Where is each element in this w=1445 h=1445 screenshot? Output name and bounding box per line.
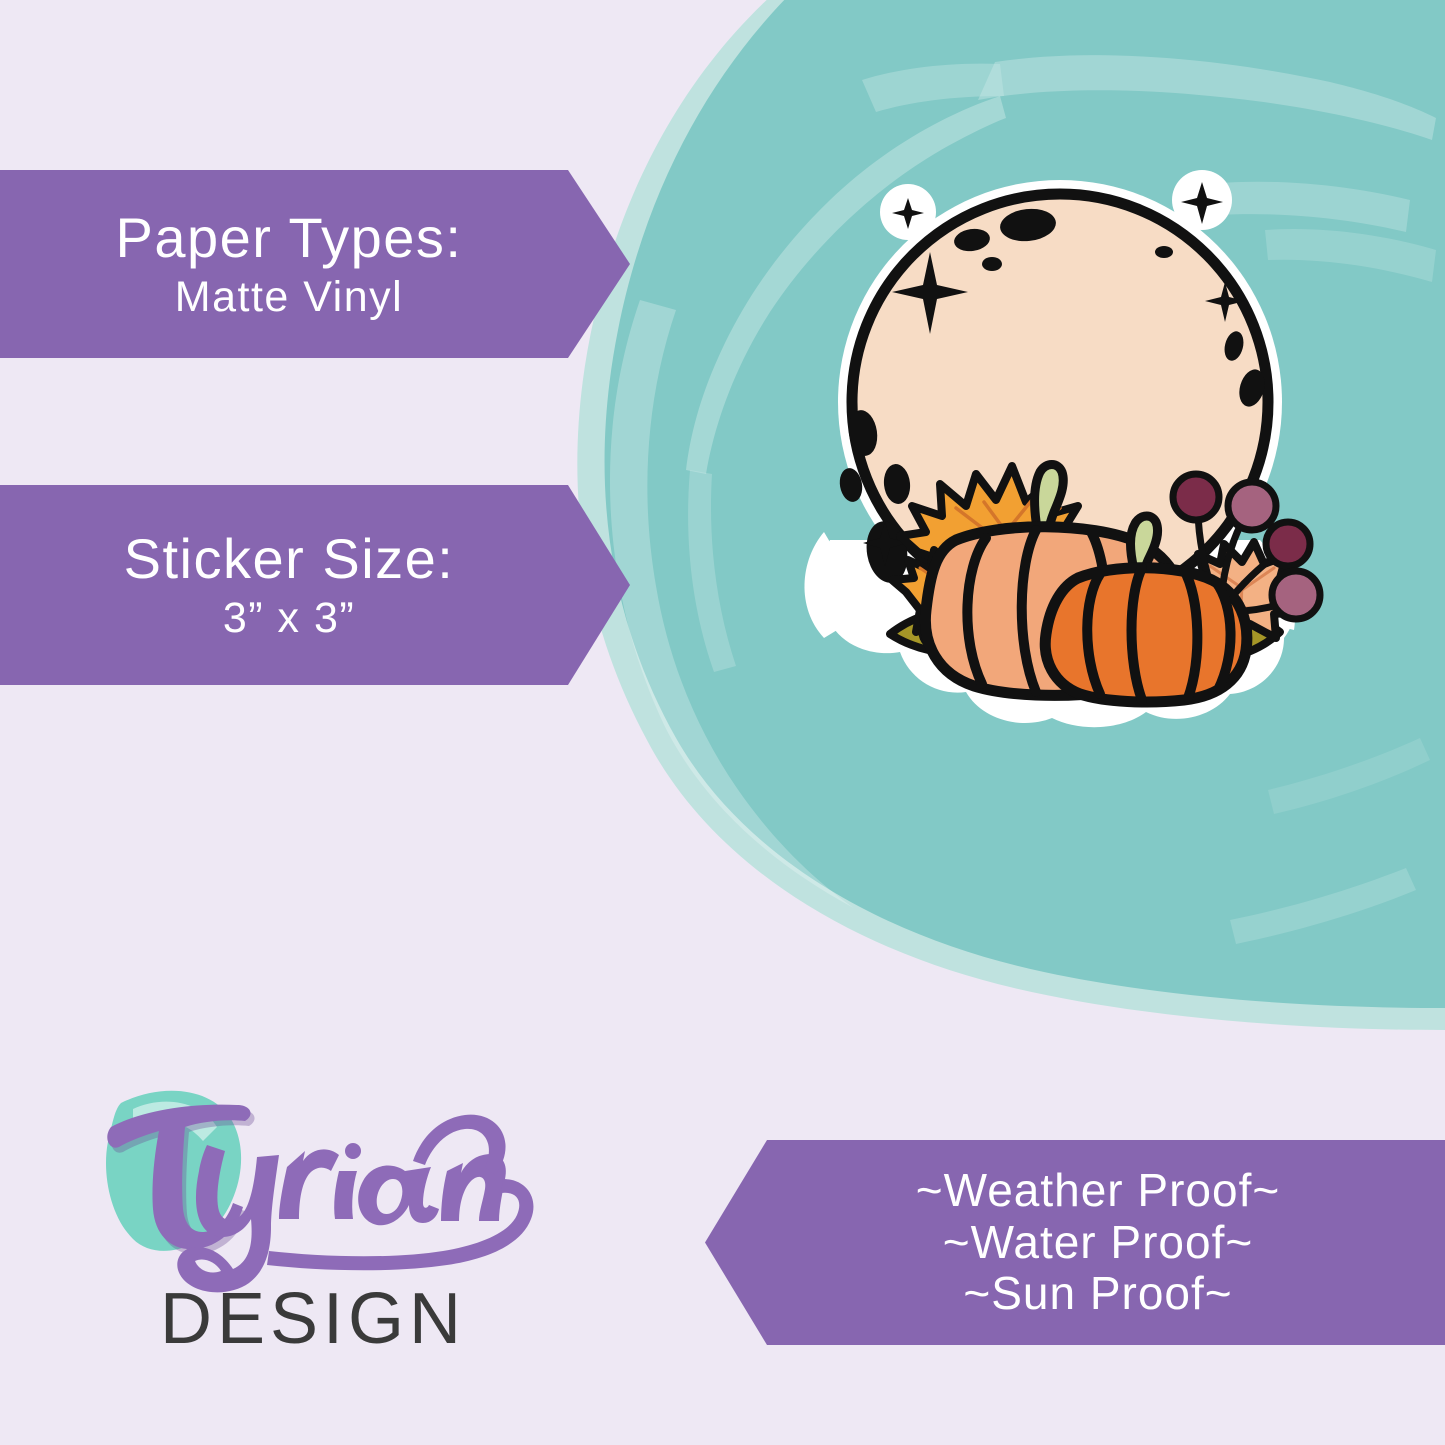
sticker-size-value: 3” x 3” <box>223 594 355 642</box>
sticker-size-banner: Sticker Size: 3” x 3” <box>0 485 630 685</box>
durability-line-sun: ~Sun Proof~ <box>963 1268 1232 1320</box>
paper-types-title: Paper Types: <box>116 207 463 270</box>
durability-banner: ~Weather Proof~ ~Water Proof~ ~Sun Proof… <box>705 1140 1445 1345</box>
pumpkin-moon-sticker: Die-cut moon sticker with two pumpkins, … <box>760 140 1360 740</box>
brand-logo: DESIGN Tyrian <box>75 1075 545 1350</box>
durability-line-water: ~Water Proof~ <box>943 1217 1253 1269</box>
paper-types-banner: Paper Types: Matte Vinyl <box>0 170 630 358</box>
logo-script-label: Tyrian <box>75 1350 76 1351</box>
paper-types-value: Matte Vinyl <box>175 273 403 321</box>
listing-canvas: Paper Types: Matte Vinyl Sticker Size: 3… <box>0 0 1445 1445</box>
durability-line-weather: ~Weather Proof~ <box>916 1165 1280 1217</box>
logo-subtitle: DESIGN <box>160 1279 466 1350</box>
sticker-size-title: Sticker Size: <box>124 528 455 591</box>
logo-script-name <box>107 1105 533 1293</box>
